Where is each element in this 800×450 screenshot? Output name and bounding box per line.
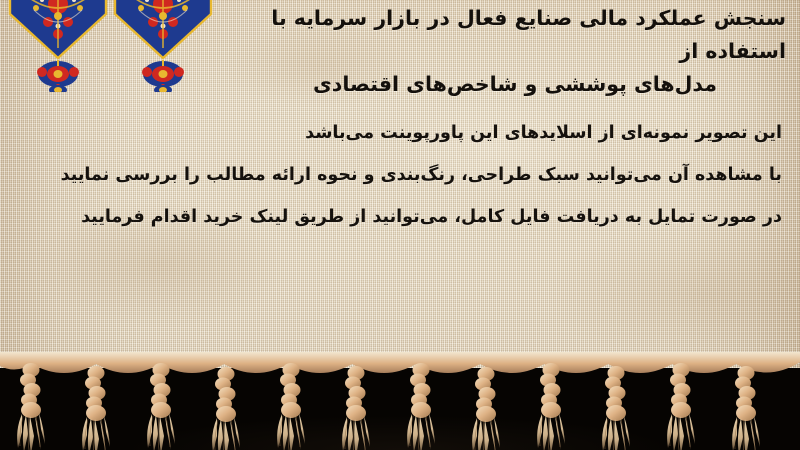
slide-title: سنجش عملکرد مالی صنایع فعال در بازار سرم… [226,2,786,101]
carpet-fringe-tassels [0,352,800,450]
title-line-1: سنجش عملکرد مالی صنایع فعال در بازار سرم… [226,2,786,68]
body-line-2: با مشاهده آن می‌توانید سبک طراحی، رنگ‌بن… [18,154,782,196]
body-line-1: این تصویر نمونه‌ای از اسلایدهای این پاور… [18,112,782,154]
title-line-2: مدل‌های پوششی و شاخص‌های اقتصادی [226,68,786,101]
slide-body: این تصویر نمونه‌ای از اسلایدهای این پاور… [18,112,782,238]
fringe-tassel-group [0,352,800,450]
presentation-slide: سنجش عملکرد مالی صنایع فعال در بازار سرم… [0,0,800,450]
body-line-3: در صورت تمایل به دریافت فایل کامل، می‌تو… [18,196,782,238]
